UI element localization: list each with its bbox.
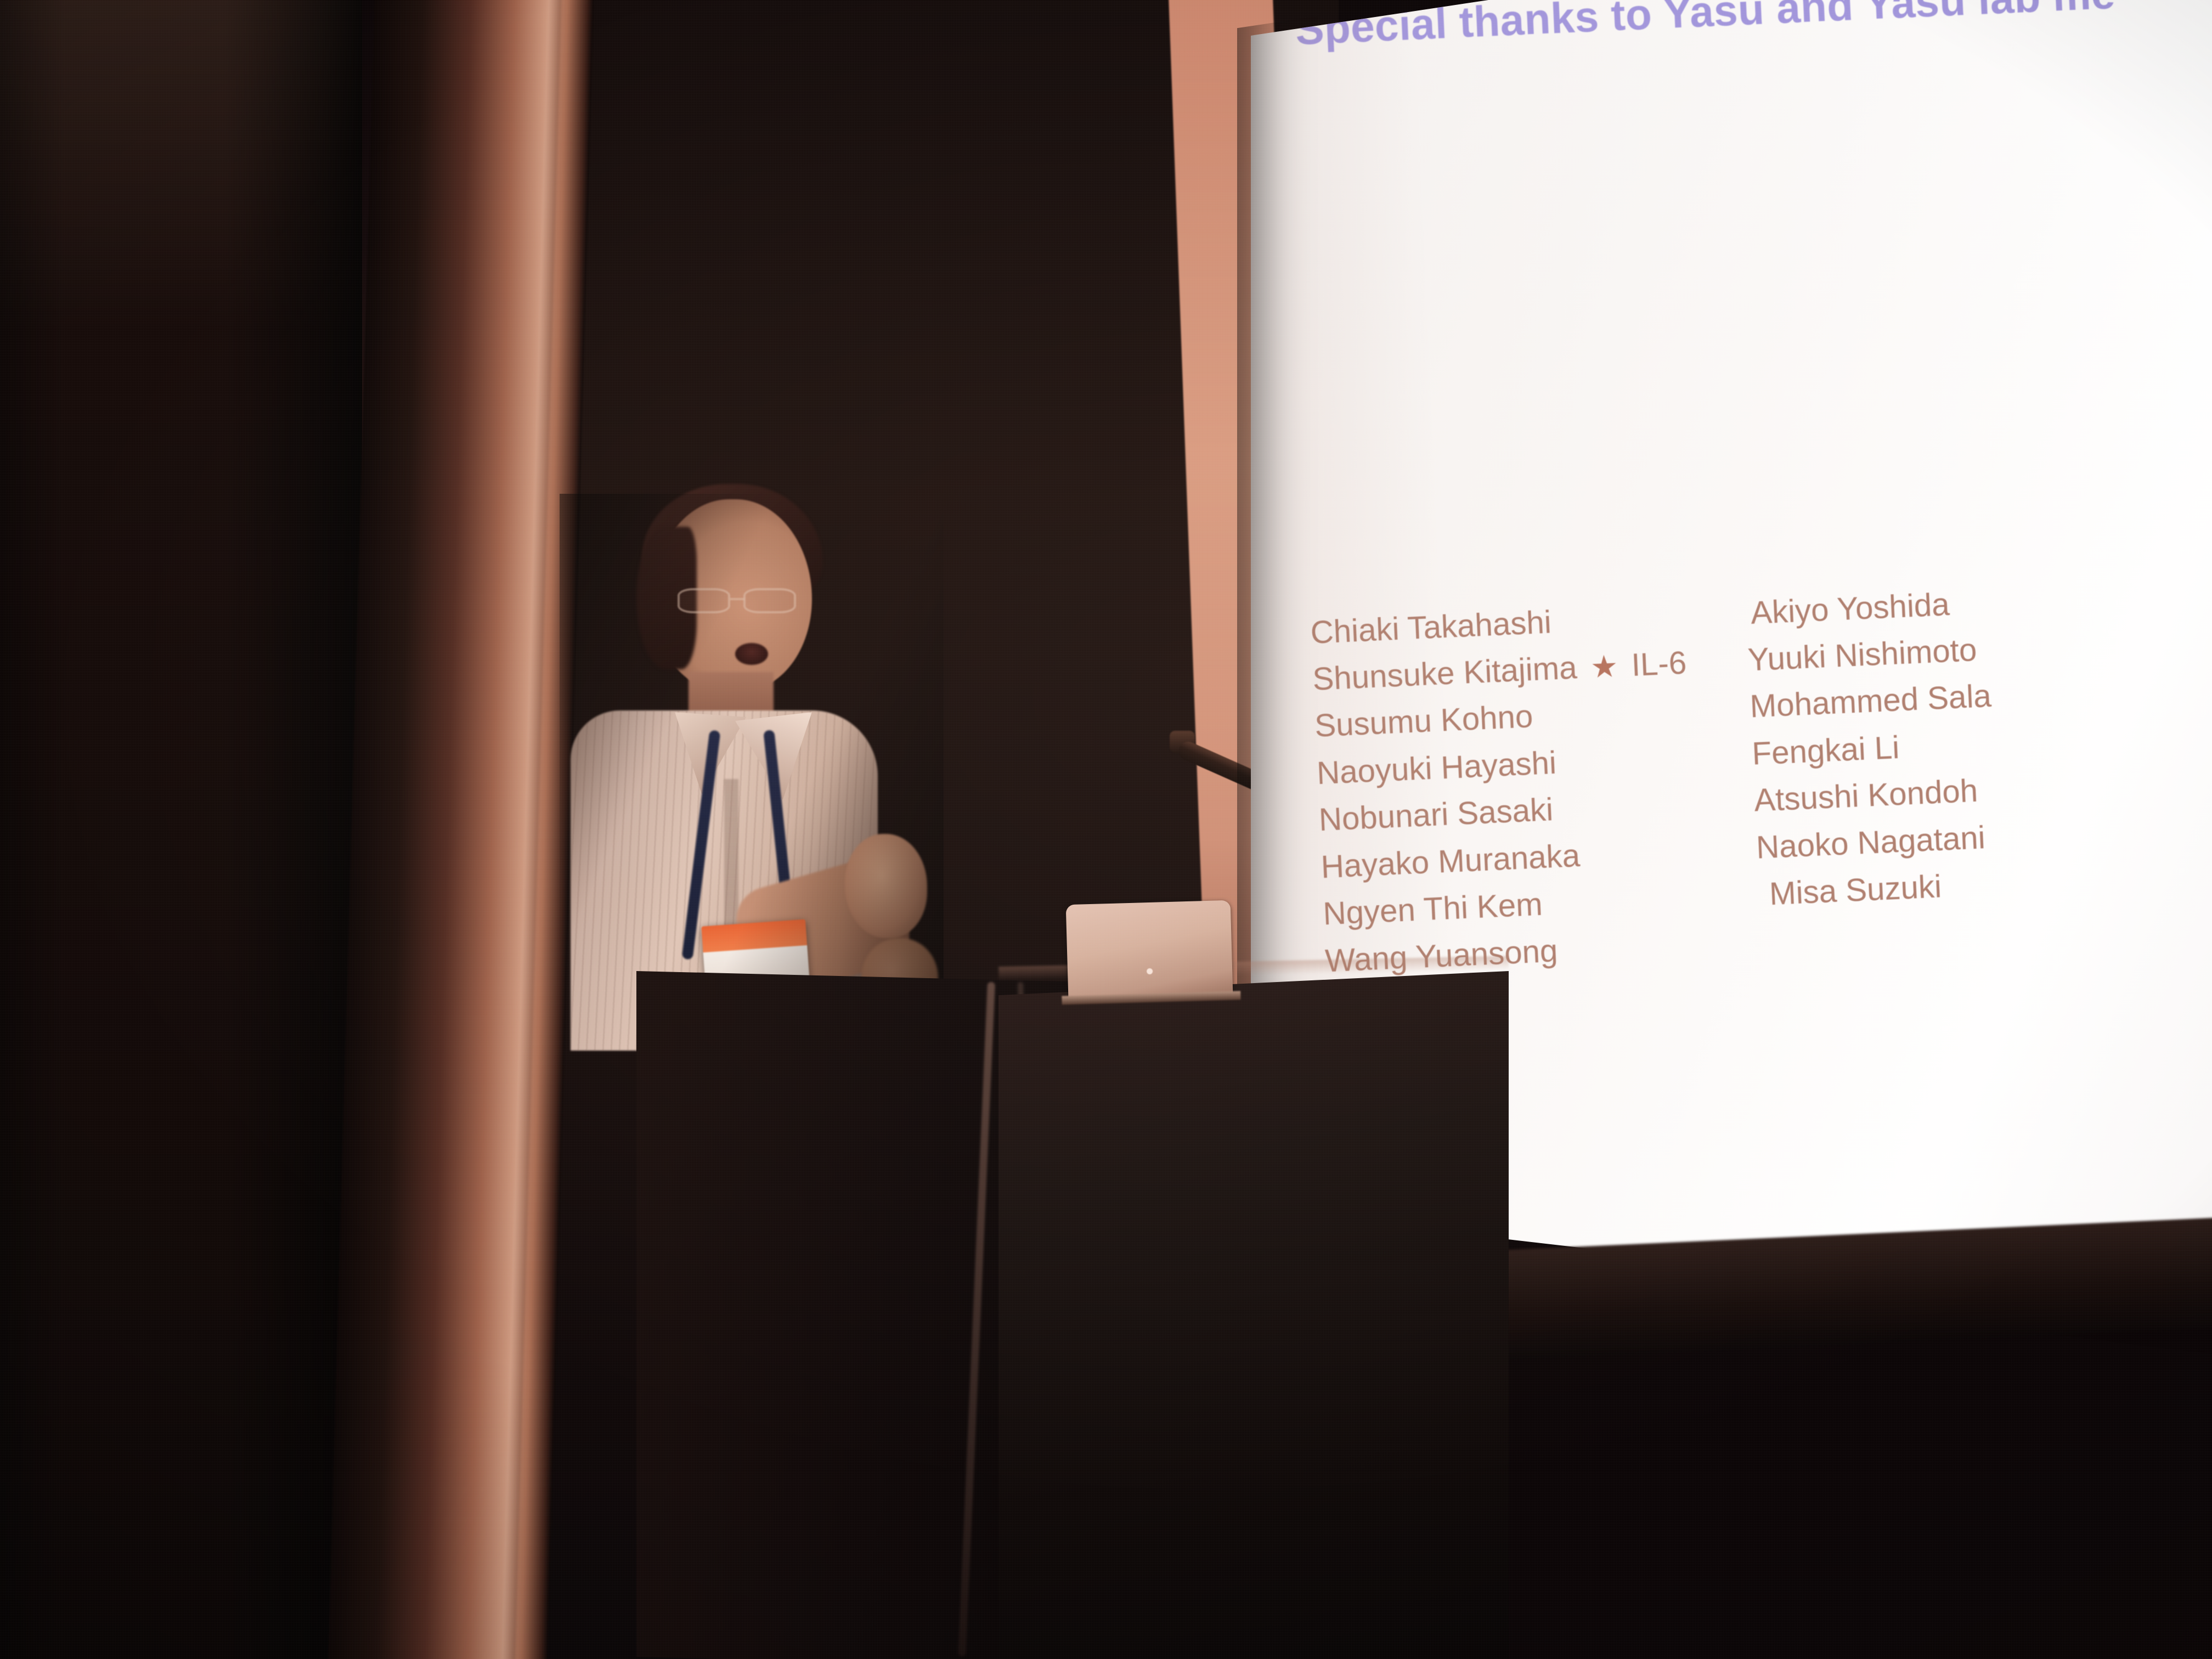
speaker-mouth xyxy=(735,643,768,665)
laptop-lid xyxy=(1066,900,1233,998)
person-tag: IL-6 xyxy=(1630,640,1688,689)
glasses-bridge xyxy=(730,598,744,600)
person-name: Fengkai Li xyxy=(1751,724,1900,777)
speaker-hand-raised xyxy=(845,834,927,938)
laptop xyxy=(1066,900,1233,998)
laptop-logo-icon xyxy=(1147,968,1153,974)
lens-right xyxy=(743,588,796,613)
lens-left xyxy=(678,588,730,613)
person-name: Misa Suzuki xyxy=(1768,864,1942,918)
person-name: Akiyo Yoshida xyxy=(1750,581,1950,637)
speaker-person xyxy=(560,494,944,1042)
name-column-left: Chiaki Takahashi Shunsuke Kitajima ★ IL-… xyxy=(1310,592,1700,985)
star-icon: ★ xyxy=(1589,644,1619,690)
conference-presentation-photo: he Takahashi Lab. Special thanks to Yasu… xyxy=(0,0,2212,1659)
wall-shading xyxy=(0,0,362,1659)
acknowledgement-name-columns: Chiaki Takahashi Shunsuke Kitajima ★ IL-… xyxy=(1310,579,2003,985)
list-item: Misa Suzuki xyxy=(1762,861,2001,918)
eyeglasses-icon xyxy=(678,588,815,614)
podium xyxy=(998,971,1509,1659)
slatted-acoustic-wall xyxy=(0,0,362,1659)
name-column-right: Akiyo Yoshida Yuuki Nishimoto Mohammed S… xyxy=(1739,579,2002,966)
